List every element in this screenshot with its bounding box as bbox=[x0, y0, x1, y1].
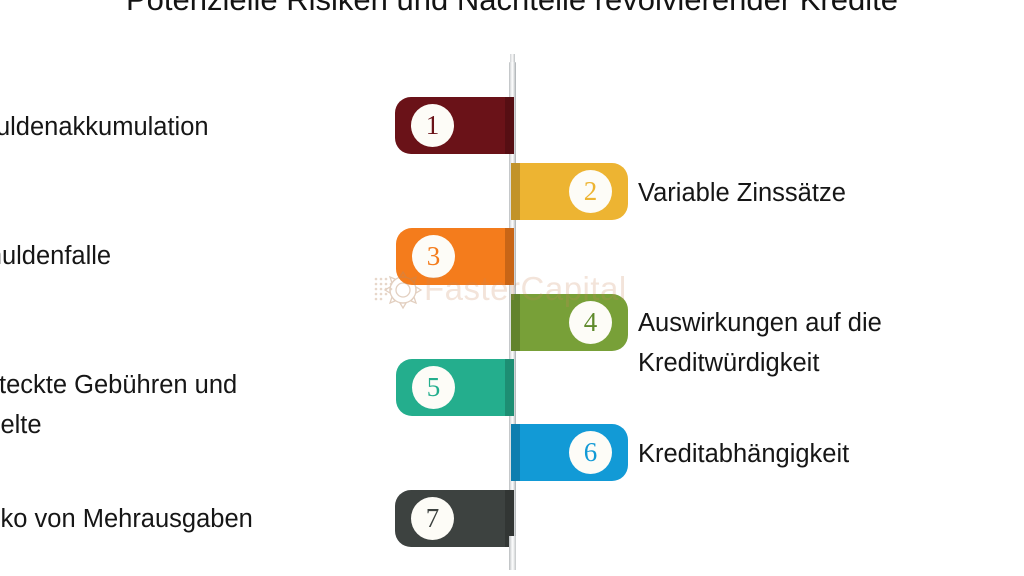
flag-fold-2 bbox=[511, 163, 520, 220]
flag-number-2: 2 bbox=[569, 170, 612, 213]
flag-label-7: Risiko von Mehrausgaben bbox=[0, 499, 378, 539]
flag-number-1: 1 bbox=[411, 104, 454, 147]
page-title: Potenzielle Risiken und Nachteile revolv… bbox=[0, 0, 1024, 18]
flag-number-text-6: 6 bbox=[584, 439, 598, 466]
flag-item-1[interactable]: 1 bbox=[395, 97, 514, 154]
flag-fold-3 bbox=[505, 228, 514, 285]
pole-tip-bottom bbox=[509, 536, 516, 570]
flag-label-3: Schuldenfalle bbox=[0, 236, 378, 276]
flag-fold-1 bbox=[505, 97, 514, 154]
flag-number-5: 5 bbox=[412, 366, 455, 409]
flag-number-4: 4 bbox=[569, 301, 612, 344]
flag-number-text-3: 3 bbox=[427, 243, 441, 270]
flag-number-6: 6 bbox=[569, 431, 612, 474]
flag-fold-4 bbox=[511, 294, 520, 351]
flag-fold-5 bbox=[505, 359, 514, 416]
flag-number-text-2: 2 bbox=[584, 178, 598, 205]
flag-item-6[interactable]: 6 bbox=[511, 424, 628, 481]
flag-number-text-5: 5 bbox=[427, 374, 441, 401]
flag-label-6: Kreditabhängigkeit bbox=[638, 434, 1018, 474]
flag-number-3: 3 bbox=[412, 235, 455, 278]
flag-number-7: 7 bbox=[411, 497, 454, 540]
flag-item-3[interactable]: 3 bbox=[396, 228, 514, 285]
flag-number-text-7: 7 bbox=[426, 505, 440, 532]
flag-item-4[interactable]: 4 bbox=[511, 294, 628, 351]
flag-label-5: Versteckte Gebühren und Entgelte bbox=[0, 365, 368, 445]
flag-label-4: Auswirkungen auf die Kreditwürdigkeit bbox=[638, 303, 1018, 383]
flag-fold-6 bbox=[511, 424, 520, 481]
infographic-canvas: Potenzielle Risiken und Nachteile revolv… bbox=[0, 0, 1024, 576]
flag-number-text-1: 1 bbox=[426, 112, 440, 139]
flag-label-2: Variable Zinssätze bbox=[638, 173, 1018, 213]
flag-number-text-4: 4 bbox=[584, 309, 598, 336]
flag-item-7[interactable]: 7 bbox=[395, 490, 514, 547]
flag-item-5[interactable]: 5 bbox=[396, 359, 514, 416]
flag-item-2[interactable]: 2 bbox=[511, 163, 628, 220]
flag-label-1: Schuldenakkumulation bbox=[0, 107, 372, 147]
